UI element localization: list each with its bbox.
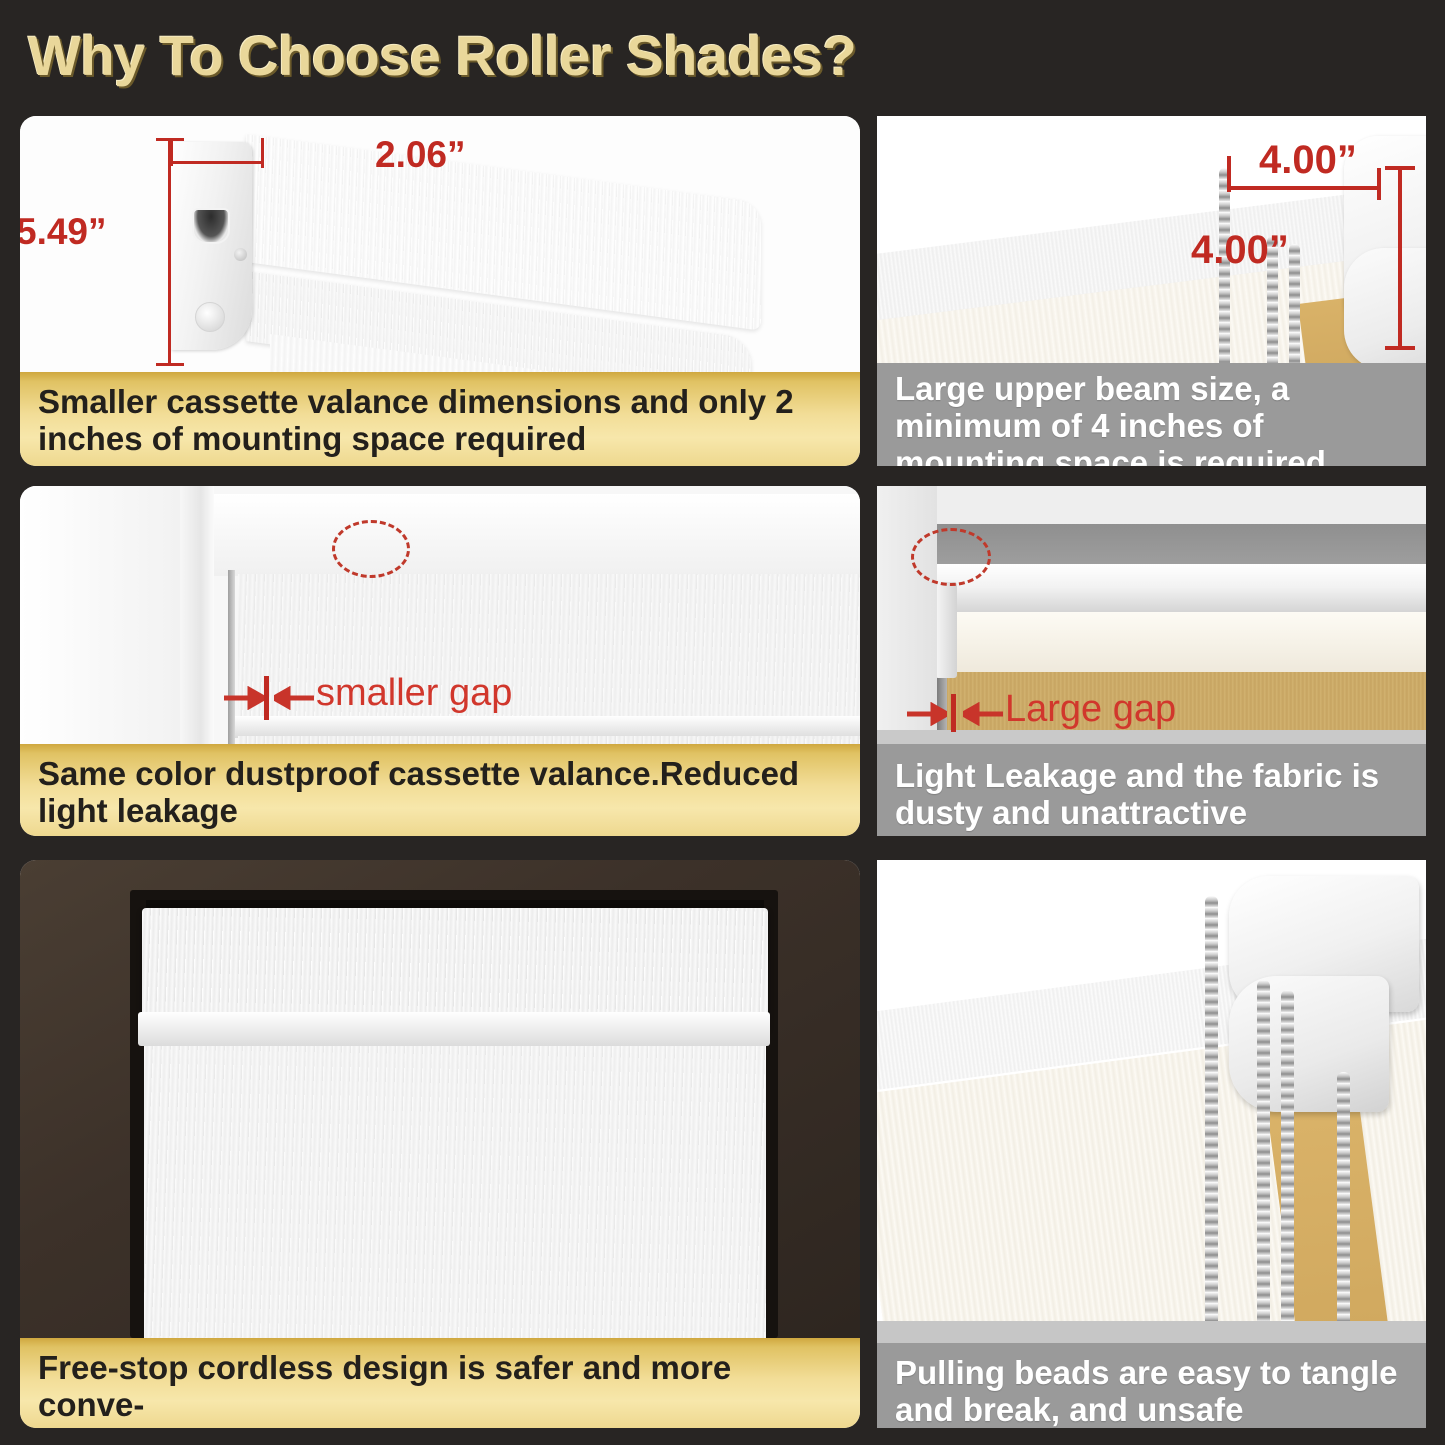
highlight-circle-icon (911, 528, 991, 586)
height-dimension-line (168, 138, 171, 366)
gap-arrow-right-icon (274, 686, 314, 710)
bead-chain-middle (1257, 980, 1270, 1343)
beam-height-tick-bottom (1385, 346, 1415, 350)
height-dimension-tick-top (156, 138, 184, 141)
panel-caption-line1: Pulling beads are easy to tangle (895, 1355, 1408, 1392)
width-dimension-line (170, 161, 264, 164)
panel-large-gap: Large gap Light Leakage and the fabric i… (877, 486, 1426, 836)
beam-width-label: 4.00” (1259, 138, 1357, 183)
panel-large-beam: 4.00” 4.00” Large upper beam size, a min… (877, 116, 1426, 466)
end-cap-bracket (170, 142, 252, 350)
gap-arrow-right-icon (963, 702, 1003, 726)
large-gap-photo: Large gap (877, 486, 1426, 744)
lower-bracket (1229, 976, 1389, 1112)
large-beam-photo: 4.00” 4.00” (877, 116, 1426, 378)
infographic-page: Why To Choose Roller Shades? 2.06” 5.49”… (0, 0, 1445, 1445)
highlight-circle-icon (332, 520, 410, 578)
gap-marker-bar (264, 676, 269, 720)
bead-chain-right (1337, 1072, 1350, 1343)
shade-side-edge (228, 570, 235, 744)
panel-caption-line2: nient (38, 1424, 842, 1428)
valance-lip (138, 1012, 770, 1046)
panel-caption: Free-stop cordless design is safer and m… (20, 1338, 860, 1428)
lower-beam-bracket (1344, 248, 1426, 370)
panel-caption: Large upper beam size, a minimum of 4 in… (877, 363, 1426, 466)
panel-cordless: Free-stop cordless design is safer and m… (20, 860, 860, 1428)
gap-label: smaller gap (316, 672, 512, 715)
panel-caption-line2: and break, and unsafe (895, 1392, 1408, 1428)
panel-pulling-beads: Pulling beads are easy to tangle and bre… (877, 860, 1426, 1428)
cassette-dimensions-photo: 2.06” 5.49” (20, 116, 860, 372)
bead-chain-inner (1281, 990, 1294, 1343)
panel-caption: Pulling beads are easy to tangle and bre… (877, 1343, 1426, 1428)
cassette-valance (142, 908, 768, 1028)
panel-cassette-dimensions: 2.06” 5.49” Smaller cassette valance dim… (20, 116, 860, 466)
panel-caption: Same color dustproof cassette valance.Re… (20, 744, 860, 836)
valance-lip (230, 716, 860, 738)
width-dimension-tick-right (261, 138, 264, 168)
bracket-screw-small (234, 248, 247, 261)
beam-height-line (1398, 166, 1402, 350)
window-header-trim (200, 494, 860, 576)
bead-chain-left (1219, 168, 1230, 378)
shade-fabric (144, 1042, 766, 1338)
beam-height-label: 4.00” (1191, 228, 1289, 273)
panel-caption-line1: Free-stop cordless design is safer and m… (38, 1350, 842, 1424)
pulling-beads-photo (877, 860, 1426, 1343)
bracket-slot (192, 208, 230, 244)
shade-fabric (238, 736, 860, 744)
panel-smaller-gap: smaller gap Same color dustproof cassett… (20, 486, 860, 836)
floor-strip (877, 730, 1426, 744)
smaller-gap-photo: smaller gap (20, 486, 860, 744)
height-dimension-label: 5.49” (20, 211, 107, 253)
gap-label: Large gap (1005, 688, 1176, 731)
width-dimension-label: 2.06” (375, 134, 466, 176)
gap-marker-bar (951, 694, 956, 732)
white-valance-strip (933, 612, 1426, 672)
beam-width-tick-left (1227, 156, 1231, 192)
gap-arrow-left-icon (907, 702, 947, 726)
page-title: Why To Choose Roller Shades? (28, 22, 1128, 90)
bead-chain-left (1205, 896, 1218, 1343)
beam-width-tick-right (1377, 168, 1381, 200)
bracket-screw (195, 302, 225, 332)
gap-arrow-left-icon (224, 686, 264, 710)
floor-strip (877, 1321, 1426, 1343)
panel-caption: Light Leakage and the fabric is dusty an… (877, 744, 1426, 836)
beam-height-tick-top (1385, 166, 1415, 170)
height-dimension-tick-bottom (156, 363, 184, 366)
beam-width-line (1229, 186, 1381, 190)
side-bracket (935, 582, 957, 678)
cordless-room-photo (20, 860, 860, 1338)
panel-caption: Smaller cassette valance dimensions and … (20, 372, 860, 466)
bead-chain-right (1289, 244, 1300, 378)
wall (20, 486, 180, 744)
